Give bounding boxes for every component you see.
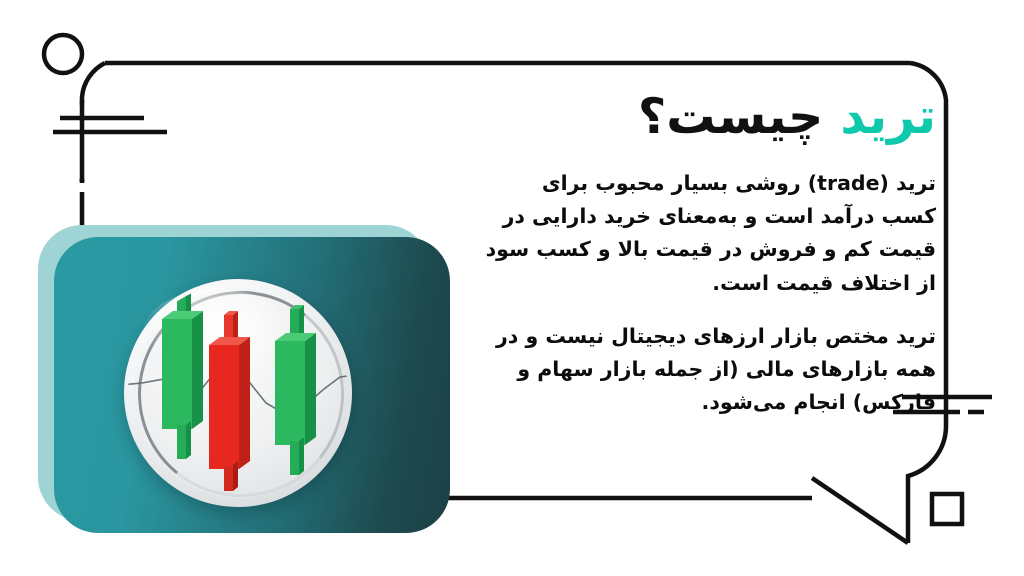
slide-canvas: ترید چیست؟ ترید (trade) روشی بسیار محبوب… [0, 0, 1024, 576]
page-title-accent: ترید [823, 88, 936, 145]
paragraph-2: ترید مختص بازار ارزهای دیجیتال نیست و در… [484, 320, 936, 420]
page-title-rest: چیست؟ [638, 88, 823, 145]
candle-1 [162, 285, 203, 459]
candle-3 [275, 305, 316, 475]
page-title: ترید چیست؟ [484, 92, 936, 141]
coin-graphic [124, 279, 352, 507]
text-column: ترید چیست؟ ترید (trade) روشی بسیار محبوب… [484, 92, 936, 419]
square-outline-icon [932, 494, 962, 524]
paragraph-1: ترید (trade) روشی بسیار محبوب برای کسب د… [484, 167, 936, 300]
candlestick-chart [124, 279, 352, 507]
candle-2 [209, 311, 250, 491]
frame-pointer-diagonal [812, 478, 908, 543]
frame-top-left-corner [82, 63, 105, 105]
illustration-container [38, 225, 450, 533]
card-panel [54, 237, 450, 533]
circle-outline-icon [44, 35, 82, 73]
